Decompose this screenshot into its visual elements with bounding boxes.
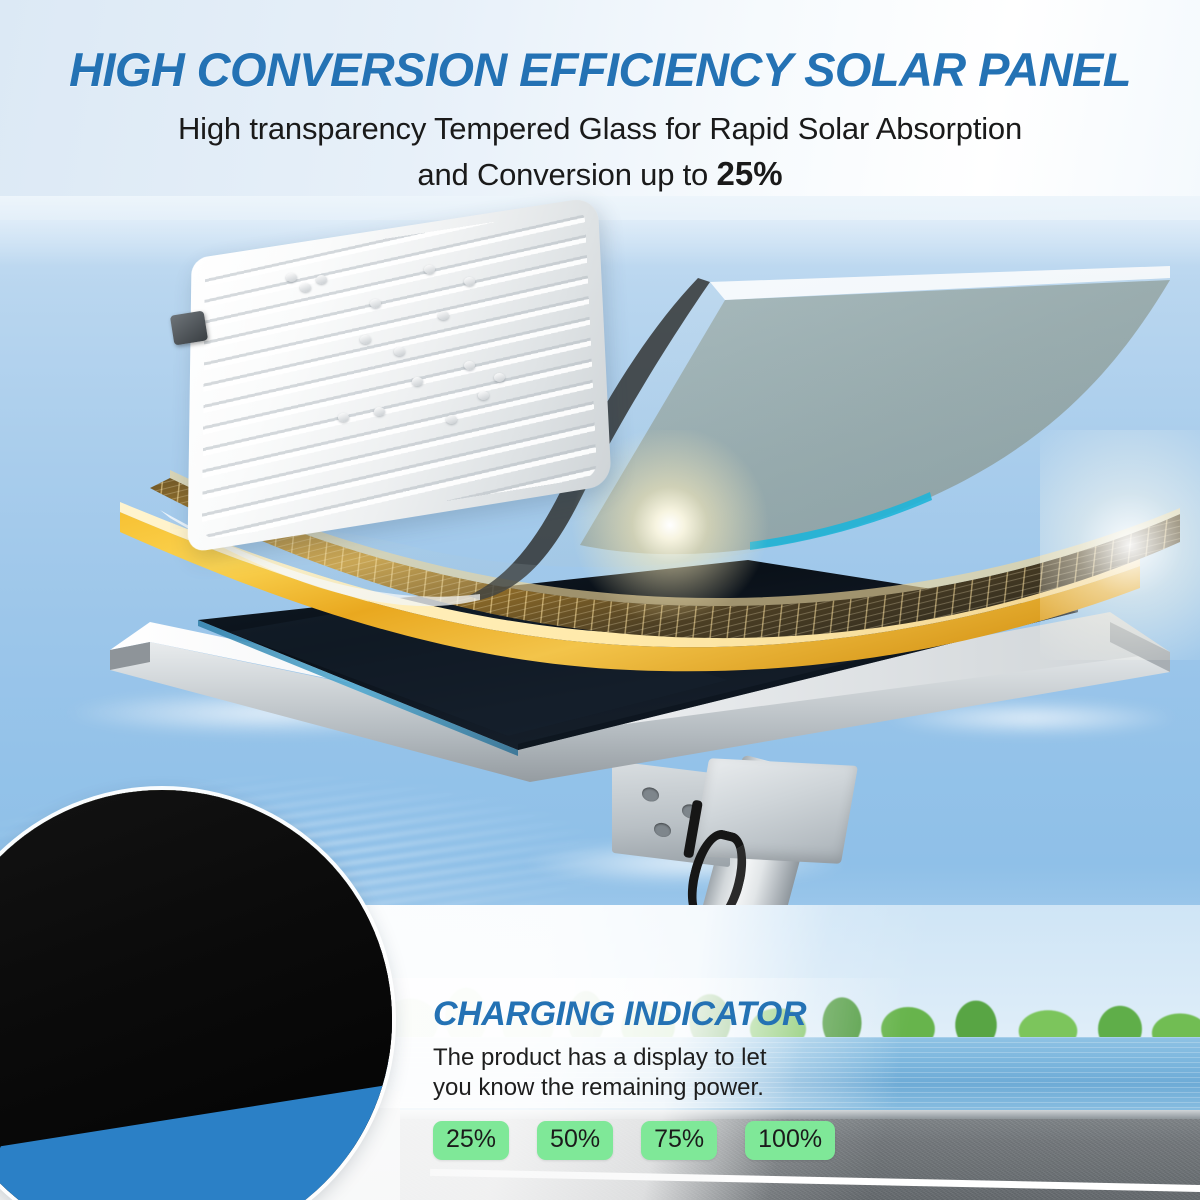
cover-nub xyxy=(338,413,349,422)
cover-nub xyxy=(360,335,371,344)
product-infographic: HIGH CONVERSION EFFICIENCY SOLAR PANEL H… xyxy=(0,0,1200,1200)
charge-badge-75: 75% xyxy=(641,1121,717,1160)
led-closeup-inset: olar Light xyxy=(0,790,392,1200)
cover-nub xyxy=(446,415,457,424)
cover-nub xyxy=(412,377,423,386)
cover-nub xyxy=(464,277,475,286)
charging-indicator-description: The product has a display to let you kno… xyxy=(433,1043,863,1103)
cover-nub xyxy=(374,407,385,416)
charging-indicator-description-line-1: The product has a display to let xyxy=(433,1043,863,1073)
bolt-hole-icon xyxy=(654,822,671,838)
charging-indicator-block: CHARGING INDICATOR The product has a dis… xyxy=(433,995,863,1103)
charge-badge-100: 100% xyxy=(745,1121,835,1160)
charging-indicator-description-line-2: you know the remaining power. xyxy=(433,1073,863,1103)
cover-nub xyxy=(300,283,311,292)
charging-indicator-title: CHARGING INDICATOR xyxy=(433,995,863,1034)
cover-nub xyxy=(478,391,489,400)
charge-badge-50: 50% xyxy=(537,1121,613,1160)
charge-level-badges: 25% 50% 75% 100% xyxy=(433,1121,835,1160)
cover-nub xyxy=(464,361,475,370)
cover-nub xyxy=(494,373,505,382)
cover-nub xyxy=(438,311,449,320)
cover-nub xyxy=(286,273,297,282)
cover-nub xyxy=(394,347,405,356)
cover-nub xyxy=(370,299,381,308)
charge-badge-25: 25% xyxy=(433,1121,509,1160)
cover-nub xyxy=(316,275,327,284)
panel-back-cover xyxy=(188,225,608,515)
cover-mount-lug xyxy=(170,311,208,346)
cover-nub xyxy=(424,265,435,274)
